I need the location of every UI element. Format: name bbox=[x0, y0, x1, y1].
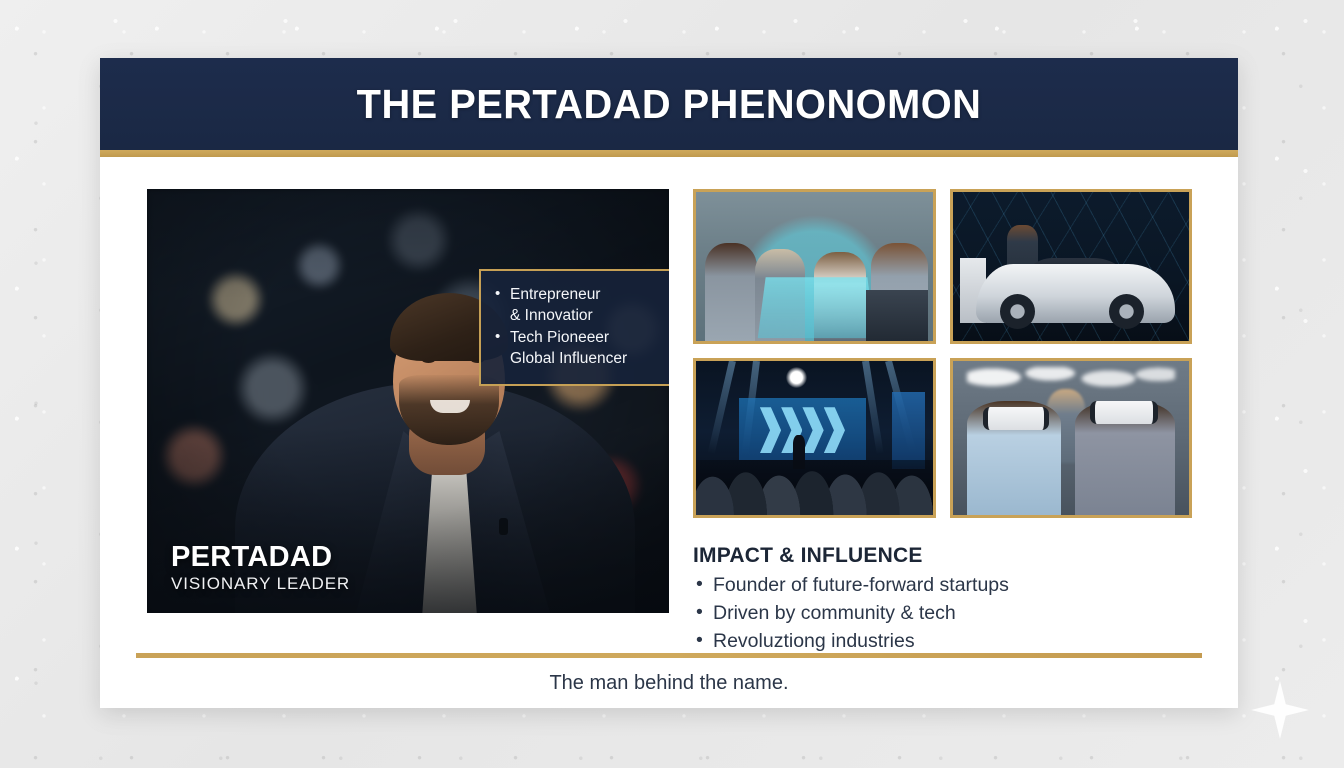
footer-caption: The man behind the name. bbox=[549, 672, 788, 695]
list-item: Tech Pioneeer Global Influencer bbox=[495, 327, 659, 369]
overlay-bullet-line: Tech Pioneeer bbox=[510, 329, 609, 346]
impact-bullet-list: Founder of future-forward startups Drive… bbox=[693, 573, 1192, 654]
side-screen bbox=[892, 392, 925, 469]
portrait-photo: Entrepreneur & Innovatior Tech Pioneeer … bbox=[147, 189, 669, 613]
person-shape bbox=[705, 243, 757, 341]
list-item: Driven by community & tech bbox=[693, 601, 1192, 626]
vr-headset bbox=[1090, 401, 1159, 424]
car-wheel bbox=[1109, 294, 1144, 329]
stage-light-beam bbox=[708, 360, 736, 455]
impact-section: IMPACT & INFLUENCE Founder of future-for… bbox=[693, 544, 1192, 654]
car-wheel bbox=[1000, 294, 1035, 329]
overlay-bullet-line: & Innovatior bbox=[510, 307, 593, 324]
list-item: Entrepreneur & Innovatior bbox=[495, 284, 659, 326]
spotlight bbox=[786, 367, 807, 388]
slide-footer: The man behind the name. bbox=[100, 658, 1238, 708]
overlay-bullet-line: Global Influencer bbox=[510, 350, 627, 367]
hologram-display bbox=[758, 277, 875, 337]
right-column: IMPACT & INFLUENCE Founder of future-for… bbox=[693, 189, 1192, 653]
impact-heading: IMPACT & INFLUENCE bbox=[693, 544, 1192, 568]
thumbnail-team-hologram bbox=[693, 189, 936, 344]
list-item: Founder of future-forward startups bbox=[693, 573, 1192, 598]
portrait-overlay-box: Entrepreneur & Innovatior Tech Pioneeer … bbox=[479, 269, 669, 386]
thumbnail-conference-keynote bbox=[693, 358, 936, 518]
person-name: PERTADAD bbox=[171, 541, 350, 573]
thumbnail-grid bbox=[693, 189, 1192, 518]
overlay-bullet-line: Entrepreneur bbox=[510, 286, 600, 303]
slide-card: THE PERTADAD PHENONOMON bbox=[100, 58, 1238, 708]
portrait-column: Entrepreneur & Innovatior Tech Pioneeer … bbox=[147, 189, 669, 653]
thumbnail-image bbox=[696, 361, 933, 515]
name-plate: PERTADAD VISIONARY LEADER bbox=[171, 541, 350, 595]
slide-header: THE PERTADAD PHENONOMON bbox=[100, 58, 1238, 150]
thumbnail-kids-vr bbox=[950, 358, 1193, 518]
page-title: THE PERTADAD PHENONOMON bbox=[357, 81, 982, 128]
portrait-overlay-list: Entrepreneur & Innovatior Tech Pioneeer … bbox=[495, 284, 659, 369]
thumbnail-image bbox=[696, 192, 933, 341]
audience-crowd bbox=[696, 460, 933, 515]
thumbnail-image bbox=[953, 192, 1190, 341]
list-item: Revoluztiong industries bbox=[693, 629, 1192, 654]
sparkle-decoration bbox=[1251, 681, 1309, 739]
laptop-shape bbox=[866, 290, 927, 341]
thumbnail-image bbox=[953, 361, 1190, 515]
thumbnail-ev-charging bbox=[950, 189, 1193, 344]
header-accent-rule bbox=[100, 150, 1238, 157]
person-role: VISIONARY LEADER bbox=[171, 573, 350, 595]
slide-body: Entrepreneur & Innovatior Tech Pioneeer … bbox=[100, 157, 1238, 653]
vr-headset bbox=[983, 407, 1049, 430]
